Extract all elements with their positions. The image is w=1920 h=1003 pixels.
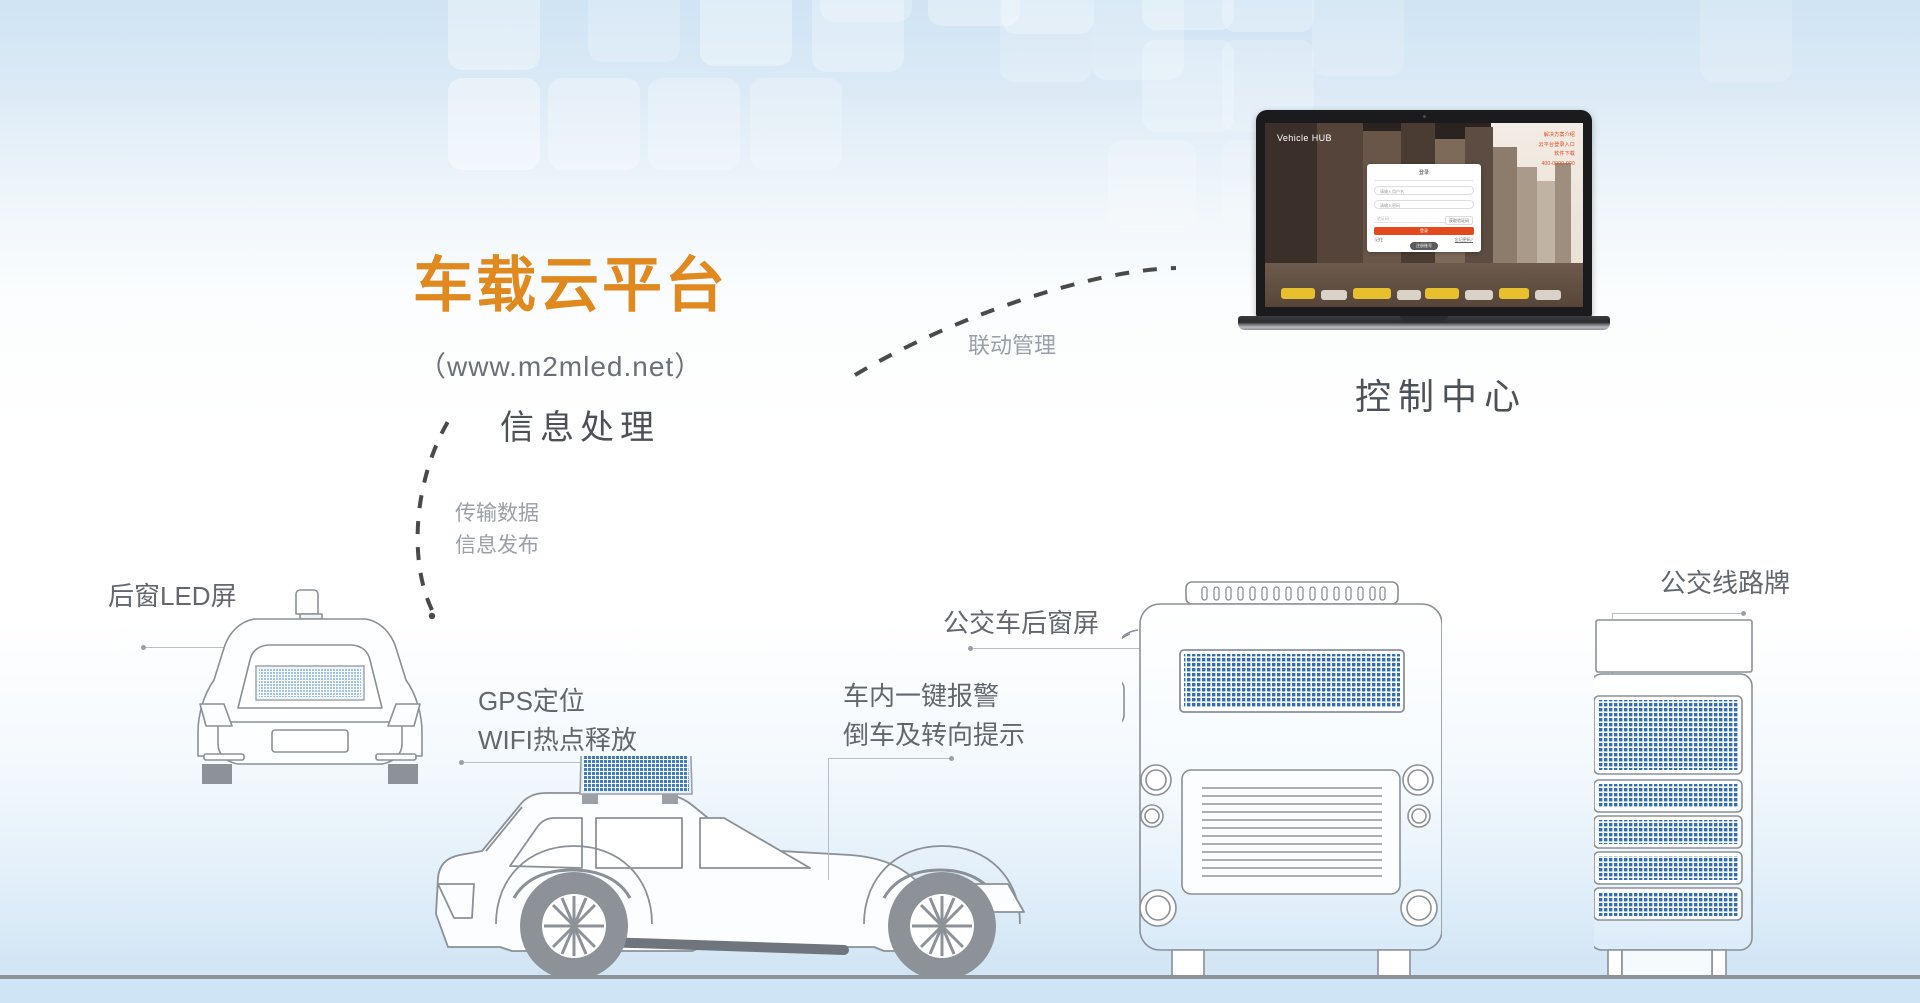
bg-square bbox=[1142, 40, 1234, 132]
bg-square bbox=[448, 78, 540, 170]
callout-gps-label-line2: WIFI热点释放 bbox=[478, 722, 637, 759]
infographic-canvas: 车载云平台 （www.m2mled.net） 信息处理 传输数据 信息发布 联动… bbox=[0, 0, 1920, 1003]
laptop-brand-logo: Vehicle HUB bbox=[1277, 133, 1332, 143]
laptop-notch bbox=[1400, 316, 1448, 321]
login-card[interactable]: 登录 请输入用户名 请输入密码 验证码 获取验证码 登录 记住 忘记密码? 注册… bbox=[1367, 164, 1481, 252]
ground-line bbox=[0, 975, 1920, 979]
bus-rear-led-screen bbox=[1180, 650, 1404, 712]
laptop-top-nav[interactable]: 解决方案介绍 云平台登录入口 软件下载 400-0000-000 bbox=[1539, 131, 1575, 169]
bg-square bbox=[820, 0, 912, 22]
callout-leader-dot bbox=[968, 646, 973, 651]
callout-alarm-label-line2: 倒车及转向提示 bbox=[843, 717, 1025, 754]
bg-square bbox=[1312, 0, 1404, 76]
photo-car bbox=[1535, 290, 1561, 300]
login-divider bbox=[1374, 180, 1474, 181]
photo-building bbox=[1265, 123, 1317, 273]
callout-leader-dot bbox=[141, 645, 146, 650]
forgot-password-link[interactable]: 忘记密码? bbox=[1455, 237, 1473, 243]
callout-leader-dot bbox=[1741, 611, 1746, 616]
callout-gps-label-line1: GPS定位 bbox=[478, 683, 585, 720]
taxi-rear-illustration bbox=[180, 588, 440, 784]
callout-leader-line bbox=[1612, 613, 1744, 614]
nav-item[interactable]: 解决方案介绍 bbox=[1539, 131, 1575, 141]
page-title: 车载云平台 bbox=[413, 256, 728, 316]
photo-taxi bbox=[1425, 288, 1459, 299]
callout-route-sign-label: 公交线路牌 bbox=[1660, 565, 1790, 602]
platform-url: （www.m2mled.net） bbox=[418, 345, 703, 385]
bg-square bbox=[1142, 0, 1234, 30]
photo-building bbox=[1517, 167, 1537, 273]
photo-building bbox=[1493, 147, 1517, 273]
callout-leader-line bbox=[828, 758, 952, 759]
register-button[interactable]: 注册账号 bbox=[1410, 242, 1438, 250]
bg-square bbox=[1700, 0, 1792, 82]
photo-car bbox=[1321, 290, 1347, 300]
nav-item[interactable]: 云平台登录入口 bbox=[1539, 141, 1575, 151]
photo-building bbox=[1317, 123, 1363, 273]
wheel bbox=[888, 872, 996, 980]
bus-route-sign-illustration bbox=[1594, 618, 1794, 978]
photo-building bbox=[1555, 163, 1571, 273]
login-submit-button[interactable]: 登录 bbox=[1374, 227, 1474, 235]
bg-square bbox=[1000, 0, 1092, 82]
bg-square bbox=[750, 78, 842, 170]
bg-square bbox=[648, 78, 740, 170]
photo-car bbox=[1465, 290, 1493, 300]
nav-item[interactable]: 软件下载 bbox=[1539, 150, 1575, 160]
bg-square bbox=[588, 0, 680, 62]
taxi-side-illustration bbox=[424, 756, 1044, 980]
callout-leader-line bbox=[828, 758, 829, 880]
password-input[interactable]: 请输入密码 bbox=[1374, 200, 1474, 209]
bus-rear-illustration bbox=[1122, 578, 1442, 978]
bg-square bbox=[548, 78, 640, 170]
photo-car bbox=[1397, 290, 1421, 300]
laptop-lid: Vehicle HUB 解决方案介绍 云平台登录入口 软件下载 400-0000… bbox=[1256, 110, 1592, 318]
remember-me-checkbox[interactable]: 记住 bbox=[1375, 237, 1383, 243]
photo-taxi bbox=[1499, 288, 1529, 299]
photo-taxi bbox=[1353, 288, 1391, 299]
uplink-dashed-curve bbox=[418, 418, 450, 610]
photo-street bbox=[1265, 263, 1583, 307]
control-link-label: 联动管理 bbox=[968, 331, 1056, 361]
platform-subtitle: 信息处理 bbox=[500, 400, 660, 449]
callout-bus-screen-label: 公交车后窗屏 bbox=[943, 605, 1099, 642]
control-center-caption: 控制中心 bbox=[1355, 368, 1527, 420]
wheel bbox=[520, 872, 628, 980]
bg-square bbox=[1108, 140, 1196, 228]
uplink-label-line2: 信息发布 bbox=[455, 532, 539, 560]
callout-alarm-label-line1: 车内一键报警 bbox=[843, 678, 999, 715]
ground-band bbox=[0, 979, 1920, 1003]
laptop-screen[interactable]: Vehicle HUB 解决方案介绍 云平台登录入口 软件下载 400-0000… bbox=[1265, 123, 1583, 307]
bg-square bbox=[1222, 0, 1314, 32]
username-input[interactable]: 请输入用户名 bbox=[1374, 186, 1474, 195]
captcha-button[interactable]: 获取验证码 bbox=[1445, 216, 1473, 225]
callout-leader-dot bbox=[949, 756, 954, 761]
control-center-laptop[interactable]: Vehicle HUB 解决方案介绍 云平台登录入口 软件下载 400-0000… bbox=[1238, 110, 1610, 338]
photo-taxi bbox=[1281, 288, 1315, 299]
uplink-label-line1: 传输数据 bbox=[455, 500, 539, 528]
photo-building bbox=[1537, 181, 1555, 273]
login-heading: 登录 bbox=[1367, 169, 1481, 176]
nav-item[interactable]: 400-0000-000 bbox=[1539, 160, 1575, 170]
bg-square bbox=[700, 0, 792, 66]
bg-square bbox=[448, 0, 540, 70]
